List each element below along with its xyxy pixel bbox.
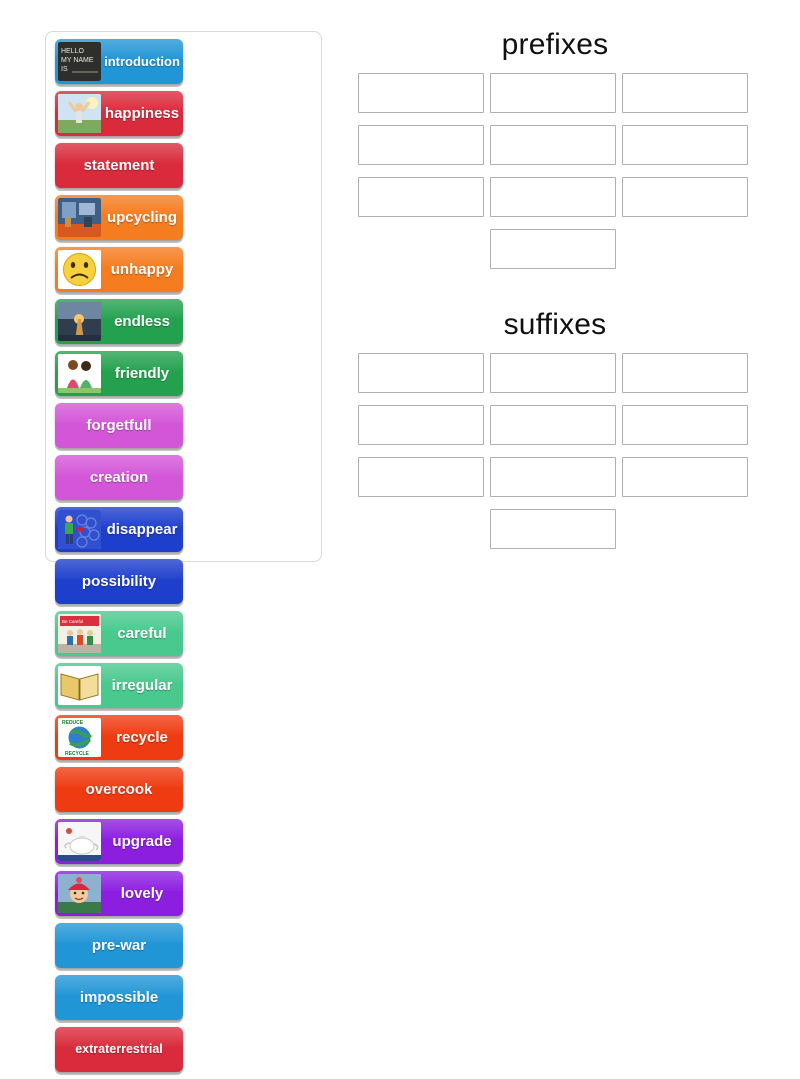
drop-slot[interactable] — [490, 405, 616, 445]
word-tile[interactable]: upcycling — [55, 195, 183, 240]
open-book-image — [58, 666, 101, 705]
group-prefixes-slots — [355, 73, 755, 281]
word-tile[interactable]: HELLOMY NAMEISintroduction — [55, 39, 183, 84]
word-tile-label: pre-war — [89, 938, 149, 953]
svg-text:RECYCLE: RECYCLE — [65, 751, 90, 757]
svg-text:HELLO: HELLO — [61, 48, 85, 55]
word-tiles-panel: HELLOMY NAMEISintroductionhappinessstate… — [45, 31, 322, 562]
blackboard-hello-my-name-is-image: HELLOMY NAMEIS — [58, 42, 101, 81]
two-friends-hugging-image — [58, 354, 101, 393]
word-tile[interactable]: statement — [55, 143, 183, 188]
drop-slot[interactable] — [358, 457, 484, 497]
white-teapot-upgrade-image — [58, 822, 101, 861]
word-tile-label: friendly — [101, 366, 183, 381]
word-tile-label: lovely — [101, 886, 183, 901]
word-tile-label: forgetfull — [84, 418, 155, 433]
word-tile[interactable]: irregular — [55, 663, 183, 708]
drop-slot[interactable] — [358, 177, 484, 217]
word-tile[interactable]: endless — [55, 299, 183, 344]
group-suffixes-slots — [355, 353, 755, 561]
word-tile[interactable]: extraterrestrial — [55, 1027, 183, 1072]
svg-text:IS: IS — [61, 66, 68, 73]
word-tile-label: endless — [101, 314, 183, 329]
svg-text:MY NAME: MY NAME — [61, 57, 94, 64]
drop-slot[interactable] — [490, 353, 616, 393]
drop-slot[interactable] — [358, 353, 484, 393]
word-tile[interactable]: happiness — [55, 91, 183, 136]
endless-road-sunset-image — [58, 302, 101, 341]
drop-slot[interactable] — [622, 353, 748, 393]
word-tile-label: possibility — [79, 574, 159, 589]
drop-slot[interactable] — [490, 457, 616, 497]
word-tile-label: impossible — [77, 990, 161, 1005]
drop-slot[interactable] — [490, 177, 616, 217]
drop-slot[interactable] — [622, 125, 748, 165]
word-tile-label: careful — [101, 626, 183, 641]
drop-slot[interactable] — [358, 125, 484, 165]
word-tile[interactable]: REDUCERECYCLErecycle — [55, 715, 183, 760]
group-prefixes-title: prefixes — [345, 28, 765, 61]
word-tile[interactable]: disappear — [55, 507, 183, 552]
group-suffixes-title: suffixes — [345, 308, 765, 341]
drop-slot[interactable] — [622, 177, 748, 217]
child-red-hat-smiling-image — [58, 874, 101, 913]
boy-vanishing-illustration-image — [58, 510, 101, 549]
word-tile[interactable]: upgrade — [55, 819, 183, 864]
word-tile-label: introduction — [101, 55, 183, 68]
word-tile-label: extraterrestrial — [72, 1043, 166, 1056]
group-prefixes: prefixes — [345, 28, 765, 281]
word-tile[interactable]: forgetfull — [55, 403, 183, 448]
word-tile-label: happiness — [101, 106, 183, 121]
drop-slot[interactable] — [490, 229, 616, 269]
word-tile[interactable]: pre-war — [55, 923, 183, 968]
word-tile-label: disappear — [101, 522, 183, 537]
word-tiles-grid: HELLOMY NAMEISintroductionhappinessstate… — [52, 39, 317, 1079]
word-tile-label: overcook — [83, 782, 156, 797]
drop-slot[interactable] — [490, 73, 616, 113]
drop-slot[interactable] — [358, 73, 484, 113]
reduce-reuse-recycle-globe-image: REDUCERECYCLE — [58, 718, 101, 757]
word-tile-label: upgrade — [101, 834, 183, 849]
word-tile[interactable]: impossible — [55, 975, 183, 1020]
group-suffixes: suffixes — [345, 308, 765, 561]
svg-text:Be Careful: Be Careful — [62, 619, 83, 624]
word-tile[interactable]: possibility — [55, 559, 183, 604]
word-tile-label: irregular — [101, 678, 183, 693]
svg-text:REDUCE: REDUCE — [62, 720, 84, 726]
drop-slot[interactable] — [490, 509, 616, 549]
word-tile[interactable]: unhappy — [55, 247, 183, 292]
sad-face-emoji-image — [58, 250, 101, 289]
drop-slot[interactable] — [622, 405, 748, 445]
word-tile[interactable]: creation — [55, 455, 183, 500]
drop-slot[interactable] — [490, 125, 616, 165]
word-tile[interactable]: friendly — [55, 351, 183, 396]
word-tile-label: creation — [87, 470, 151, 485]
be-careful-road-safety-book-image: Be Careful — [58, 614, 101, 653]
word-tile[interactable]: lovely — [55, 871, 183, 916]
word-tile[interactable]: overcook — [55, 767, 183, 812]
word-tile-label: upcycling — [101, 210, 183, 225]
word-tile-label: unhappy — [101, 262, 183, 277]
person-arms-raised-sunrise-image — [58, 94, 101, 133]
drop-slot[interactable] — [358, 405, 484, 445]
drop-slot[interactable] — [622, 73, 748, 113]
word-tile-label: recycle — [101, 730, 183, 745]
drop-slot[interactable] — [622, 457, 748, 497]
upcycled-furniture-room-image — [58, 198, 101, 237]
word-tile[interactable]: Be Carefulcareful — [55, 611, 183, 656]
word-tile-label: statement — [81, 158, 158, 173]
